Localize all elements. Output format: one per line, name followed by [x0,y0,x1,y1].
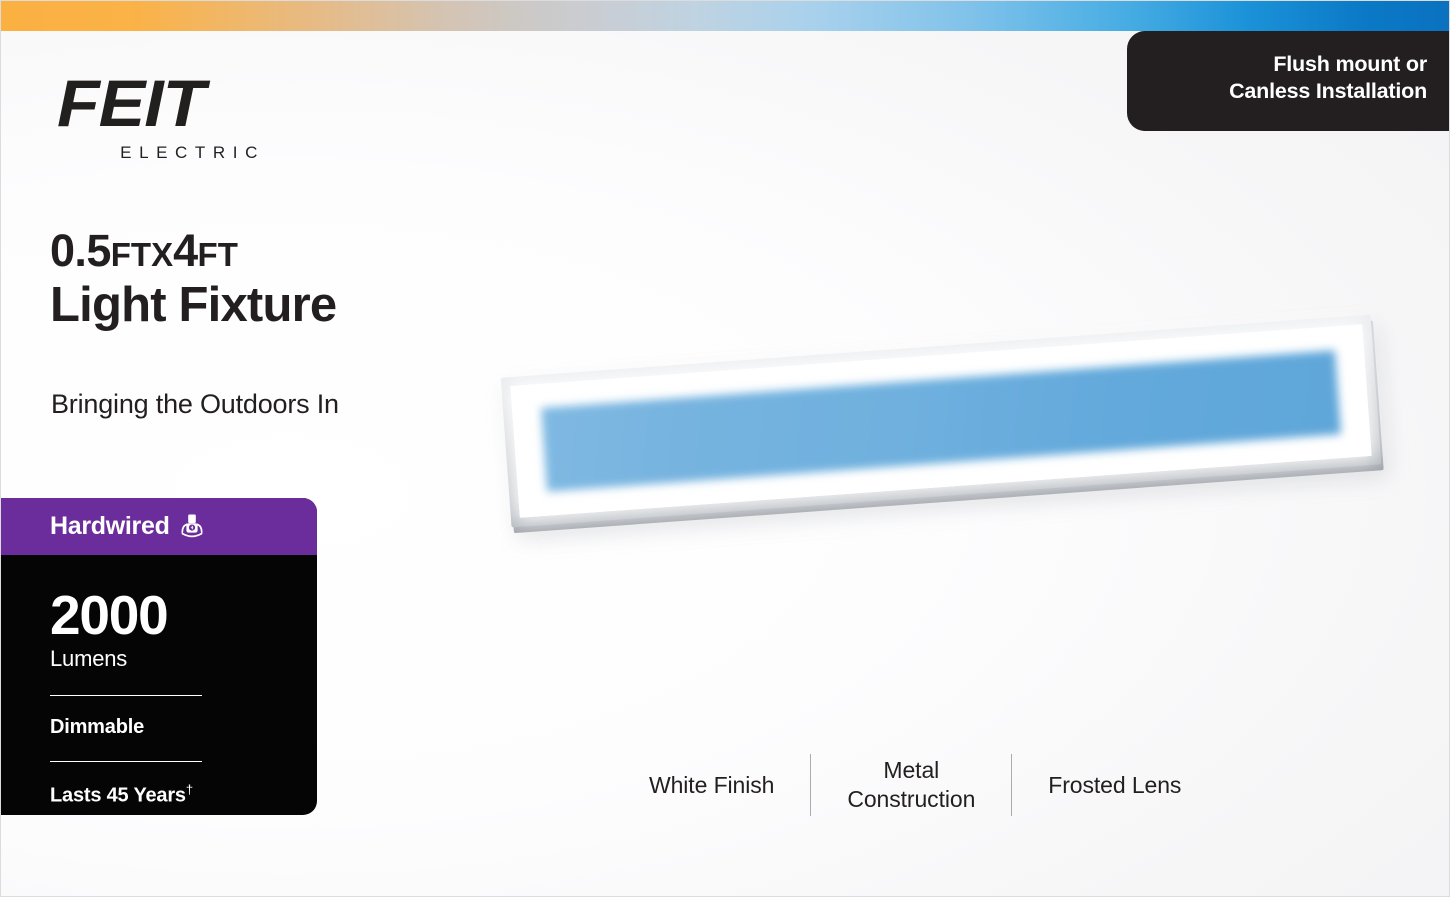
hardwired-junction-box-icon [181,514,203,539]
size-unit-1: FT [111,236,151,273]
headline-size-line: 0.5FTX4FT [50,227,610,274]
feature-white-finish-line1: White Finish [649,771,774,800]
feature-metal-construction: Metal Construction [811,756,1011,814]
spec-divider-2 [50,761,202,762]
hardwired-label: Hardwired [50,512,170,541]
flush-mount-badge: Flush mount or Canless Installation [1127,31,1449,131]
logo-subtitle: ELECTRIC [57,143,267,163]
spec-divider-1 [50,695,202,696]
badge-line-2: Canless Installation [1229,78,1427,105]
lumens-label: Lumens [50,645,317,674]
spec-card-body: 2000 Lumens Dimmable Lasts 45 Years† [1,555,317,808]
led-flat-panel-light-fixture [501,315,1382,528]
size-unit-2: FT [198,236,238,273]
feature-metal-construction-line2: Construction [847,785,975,814]
logo-wordmark: FEIT [57,73,301,134]
panel-metal-frame [501,315,1382,528]
feature-frosted-lens: Frosted Lens [1012,771,1217,800]
spec-feature-lifespan: Lasts 45 Years† [50,782,317,808]
tagline: Bringing the Outdoors In [51,389,339,420]
lifespan-footnote-marker: † [186,782,193,797]
feature-row: White Finish Metal Construction Frosted … [613,749,1313,821]
lumens-value: 2000 [50,589,317,642]
spec-card-header: Hardwired [1,498,317,555]
brand-logo: FEIT ELECTRIC [57,73,287,163]
product-image [471,301,1421,561]
feature-white-finish: White Finish [613,771,810,800]
feature-frosted-lens-line1: Frosted Lens [1048,771,1181,800]
size-multiplier: X [151,236,173,273]
size-value-2: 4 [173,225,197,276]
top-gradient-bar [1,1,1450,31]
panel-frosted-lens [510,324,1371,517]
panel-blue-glow [541,350,1341,491]
lifespan-label: Lasts 45 Years [50,785,186,807]
spec-card: Hardwired 2000 Lumens Dimmable Lasts 45 … [1,498,317,815]
feature-metal-construction-line1: Metal [847,756,975,785]
product-marketing-banner: Flush mount or Canless Installation FEIT… [0,0,1450,897]
size-value-1: 0.5 [50,225,111,276]
spec-feature-dimmable: Dimmable [50,716,317,739]
badge-line-1: Flush mount or [1273,51,1427,78]
